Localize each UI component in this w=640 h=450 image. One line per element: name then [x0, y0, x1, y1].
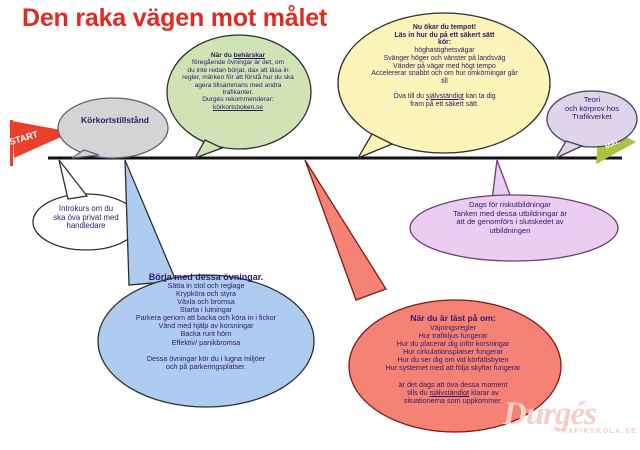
bubble-green-theory-text: När du behärskar föregående övningar är …: [168, 52, 308, 111]
green-line-5: agera tillsammans med andra: [168, 82, 308, 89]
yellow-item: Accelererar snabbt och om hur omkörninga…: [337, 70, 552, 78]
yellow-footer-2: fram på ett säkert sätt.: [337, 101, 552, 109]
bubble-intro-course-text: Introkurs om du ska öva privat med handl…: [33, 205, 139, 231]
red-footer-3: situationerna som uppkommer.: [344, 397, 562, 405]
yellow-item: till: [337, 78, 552, 86]
blue-footer-2: och på parkeringsplatser.: [96, 363, 316, 371]
teori-line-3: Trafikverket: [553, 113, 631, 122]
green-emphasis: behärskar: [234, 52, 266, 59]
korkortstillstand-label: Körkortstillstånd: [60, 116, 170, 126]
infographic-canvas: Den raka vägen mot målet START MÅL Körko…: [0, 0, 640, 450]
blue-item: Effektiv/ panikbromsa: [96, 339, 316, 347]
bubble-red-when-read-text: När du är läst på om: Väjningsregler Hur…: [344, 314, 562, 405]
risk-line-4: utbildningen: [410, 227, 610, 236]
green-line-4: regler, märken för att förstå hur du ska: [168, 74, 308, 81]
yellow-heading-2: Läs in hur du på ett säkert sätt: [337, 32, 552, 40]
green-line-2: föregående övningar är det, om: [168, 59, 308, 66]
page-title: Den raka vägen mot målet: [22, 4, 327, 33]
yellow-item: höghastighetsvägar: [337, 47, 552, 55]
green-line-6: trafikanter.: [168, 89, 308, 96]
korkortsboken-link[interactable]: körkortsboken.se: [168, 104, 308, 111]
yellow-heading-1: Nu ökar du tempot!: [337, 24, 552, 32]
yellow-item: Svänger höger och vänster på landsväg: [337, 55, 552, 63]
yellow-footer-1: Öva till du självständigt kan ta dig: [337, 93, 552, 101]
yellow-emphasis: självständigt: [426, 93, 464, 100]
bubble-korkortstillstand-text: Körkortstillstånd: [60, 116, 170, 126]
bubble-blue-exercises-text: Börja med dessa övningar. Sätta in stol …: [96, 272, 316, 371]
bubble-yellow-tempo-text: Nu ökar du tempot! Läs in hur du på ett …: [337, 24, 552, 108]
yellow-heading-3: kör:: [337, 39, 552, 47]
bubble-teori-text: Teori och körprov hos Trafikverket: [553, 96, 631, 122]
red-item: Hur systemet med att följa skyltar funge…: [344, 364, 562, 372]
bubble-korkortstillstand[interactable]: [58, 98, 168, 158]
bubble-purple-risk-text: Dags för riskutbildningar Tanken med des…: [410, 201, 610, 235]
intro-line-3: handledare: [33, 222, 139, 231]
green-line-7: Durgés rekommenderar:: [168, 96, 308, 103]
yellow-spacer: [337, 86, 552, 93]
